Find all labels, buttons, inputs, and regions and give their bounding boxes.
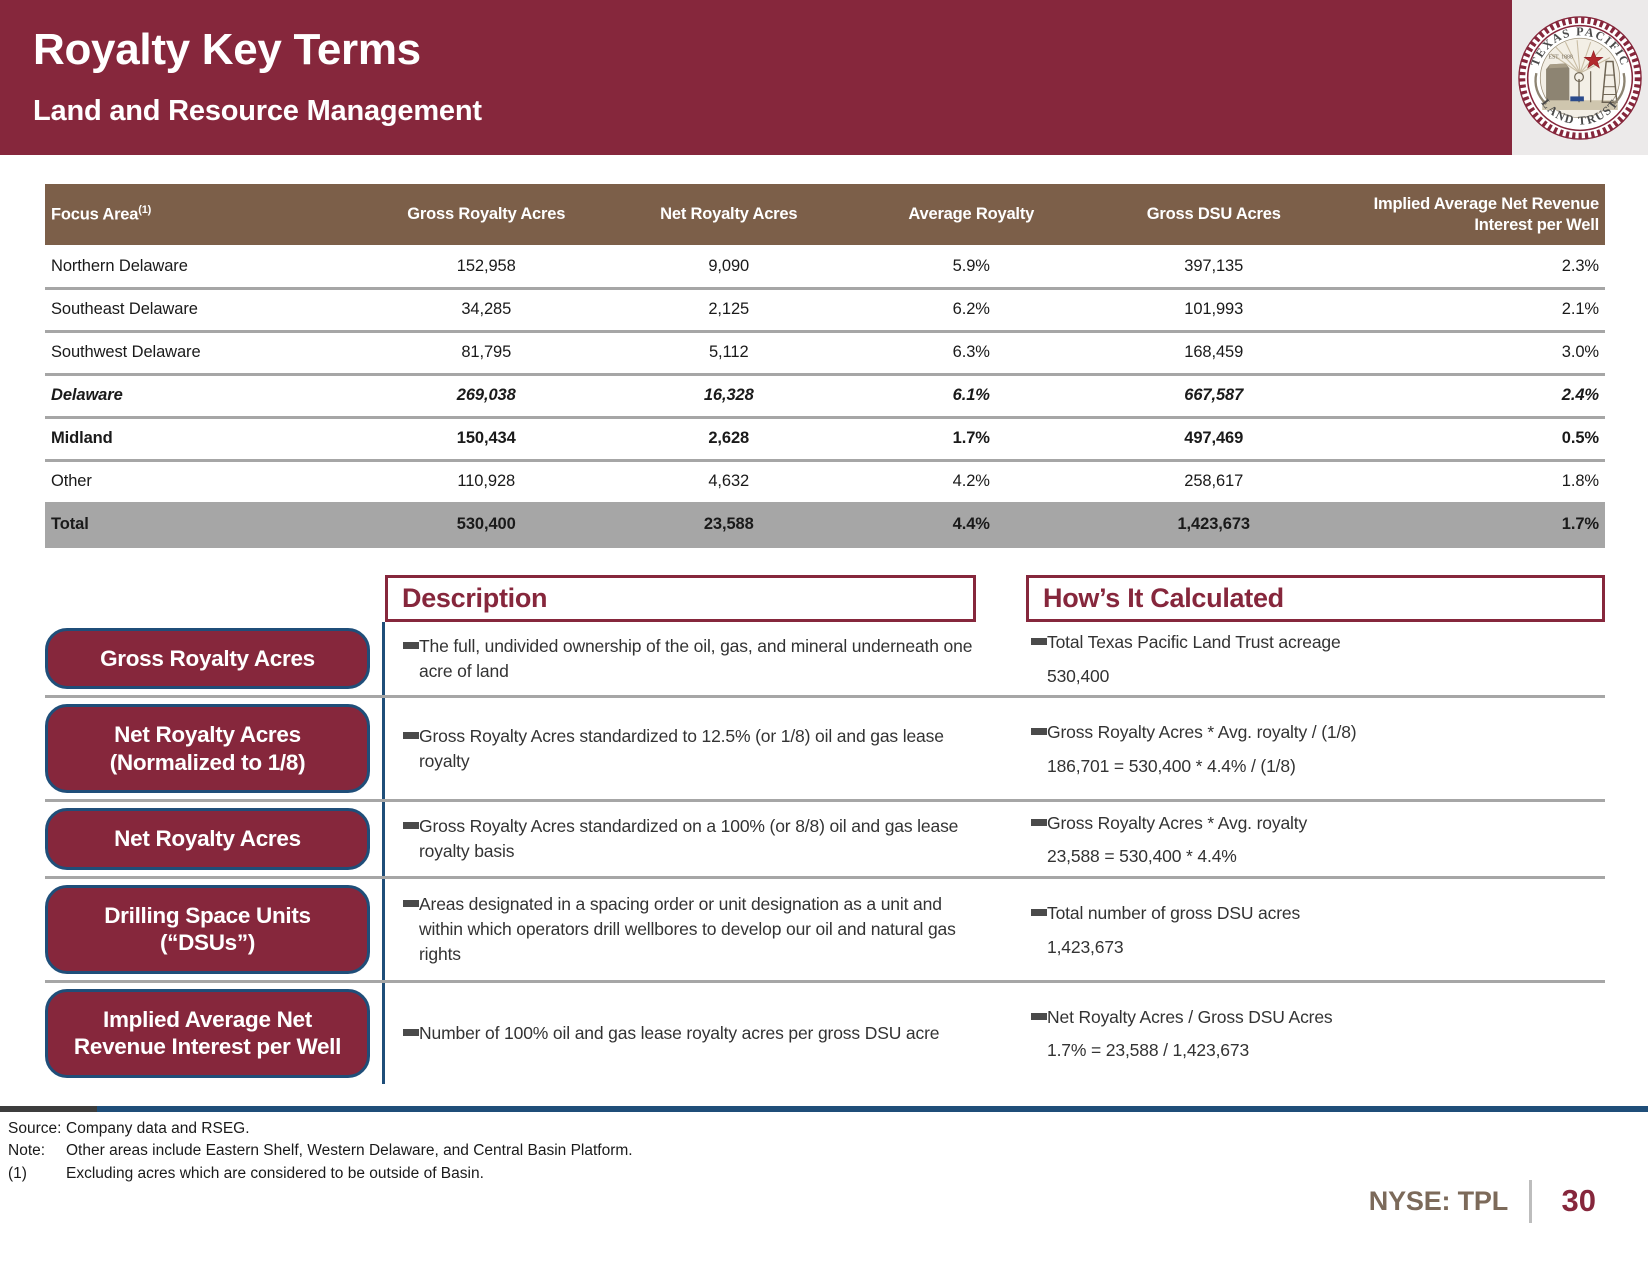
cell-net-royalty-acres: 2,628 bbox=[608, 417, 851, 460]
cell-focus-area: Other bbox=[45, 460, 365, 503]
focus-area-footnote-marker: (1) bbox=[138, 204, 151, 216]
cell-implied-nri: 0.5% bbox=[1335, 417, 1605, 460]
table-row: Southwest Delaware81,7955,1126.3%168,459… bbox=[45, 331, 1605, 374]
slide-root: Royalty Key Terms Land and Resource Mana… bbox=[0, 0, 1648, 1275]
term-row: Net Royalty AcresGross Royalty Acres sta… bbox=[45, 802, 1605, 878]
description-text: Gross Royalty Acres standardized on a 10… bbox=[419, 814, 989, 864]
calculation-value-text: 186,701 = 530,400 * 4.4% / (1/8) bbox=[1031, 756, 1587, 777]
cell-average-royalty: 1.7% bbox=[850, 417, 1093, 460]
cell-implied-nri: 2.1% bbox=[1335, 288, 1605, 331]
table-body: Northern Delaware152,9589,0905.9%397,135… bbox=[45, 245, 1605, 546]
calculation-cell: Total number of gross DSU acres1,423,673 bbox=[1023, 879, 1605, 980]
cell-net-royalty-acres: 2,125 bbox=[608, 288, 851, 331]
cell-average-royalty: 6.3% bbox=[850, 331, 1093, 374]
cell-gross-royalty-acres: 150,434 bbox=[365, 417, 608, 460]
page-subtitle: Land and Resource Management bbox=[33, 95, 482, 128]
cell-implied-nri: 1.8% bbox=[1335, 460, 1605, 503]
company-logo: EST. 1888 TEXAS PACIFIC LAND TRUST bbox=[1512, 0, 1648, 155]
description-cell: Number of 100% oil and gas lease royalty… bbox=[385, 983, 1023, 1084]
cell-average-royalty: 4.2% bbox=[850, 460, 1093, 503]
panel-header-description-label: Description bbox=[388, 583, 547, 614]
table-row: Northern Delaware152,9589,0905.9%397,135… bbox=[45, 245, 1605, 288]
description-text: Areas designated in a spacing order or u… bbox=[419, 892, 989, 967]
table-row: Southeast Delaware34,2852,1256.2%101,993… bbox=[45, 288, 1605, 331]
bullet-square-icon bbox=[1031, 638, 1047, 645]
calculation-value-text: 23,588 = 530,400 * 4.4% bbox=[1031, 846, 1587, 867]
term-pill-cell: Drilling Space Units (“DSUs”) bbox=[45, 879, 385, 980]
cell-gross-royalty-acres: 269,038 bbox=[365, 374, 608, 417]
description-bullet: Gross Royalty Acres standardized to 12.5… bbox=[403, 724, 989, 774]
cell-focus-area: Northern Delaware bbox=[45, 245, 365, 288]
term-pill-button[interactable]: Net Royalty Acres bbox=[45, 808, 370, 869]
cell-net-royalty-acres: 16,328 bbox=[608, 374, 851, 417]
term-pill-button[interactable]: Gross Royalty Acres bbox=[45, 628, 370, 689]
cell-average-royalty: 4.4% bbox=[850, 503, 1093, 546]
texas-pacific-land-trust-seal-icon: EST. 1888 TEXAS PACIFIC LAND TRUST bbox=[1517, 15, 1643, 141]
panel-header-how-its-calculated: How’s It Calculated bbox=[1026, 575, 1605, 622]
cell-focus-area: Southwest Delaware bbox=[45, 331, 365, 374]
cell-net-royalty-acres: 5,112 bbox=[608, 331, 851, 374]
calculation-cell: Gross Royalty Acres * Avg. royalty23,588… bbox=[1023, 802, 1605, 875]
description-text: Gross Royalty Acres standardized to 12.5… bbox=[419, 724, 989, 774]
cell-gross-royalty-acres: 81,795 bbox=[365, 331, 608, 374]
column-header-focus-area: Focus Area(1) bbox=[45, 184, 365, 245]
cell-gross-royalty-acres: 530,400 bbox=[365, 503, 608, 546]
panel-header-description: Description bbox=[385, 575, 976, 622]
calculation-cell: Net Royalty Acres / Gross DSU Acres1.7% … bbox=[1023, 983, 1605, 1084]
term-pill-cell: Gross Royalty Acres bbox=[45, 622, 385, 695]
table-row: Delaware269,03816,3286.1%667,5872.4% bbox=[45, 374, 1605, 417]
cell-focus-area: Delaware bbox=[45, 374, 365, 417]
bullet-square-icon bbox=[1031, 909, 1047, 916]
term-row: Gross Royalty AcresThe full, undivided o… bbox=[45, 622, 1605, 698]
description-text: Number of 100% oil and gas lease royalty… bbox=[419, 1021, 989, 1046]
cell-focus-area: Southeast Delaware bbox=[45, 288, 365, 331]
cell-implied-nri: 2.4% bbox=[1335, 374, 1605, 417]
bullet-square-icon bbox=[403, 1029, 419, 1036]
description-bullet: Gross Royalty Acres standardized on a 10… bbox=[403, 814, 989, 864]
panel-header-how-its-calculated-label: How’s It Calculated bbox=[1029, 583, 1284, 614]
cell-gross-dsu-acres: 101,993 bbox=[1093, 288, 1336, 331]
footnote-note: Note: Other areas include Eastern Shelf,… bbox=[8, 1140, 633, 1162]
calculation-bullet: Total number of gross DSU acres bbox=[1031, 901, 1587, 926]
cell-focus-area: Total bbox=[45, 503, 365, 546]
seal-est-text: EST. 1888 bbox=[1548, 54, 1572, 60]
calculation-bullet: Gross Royalty Acres * Avg. royalty bbox=[1031, 811, 1587, 836]
royalty-table: Focus Area(1) Gross Royalty Acres Net Ro… bbox=[45, 184, 1605, 548]
footnote-source: Source: Company data and RSEG. bbox=[8, 1118, 633, 1140]
royalty-table-container: Focus Area(1) Gross Royalty Acres Net Ro… bbox=[45, 184, 1605, 548]
page-number: 30 bbox=[1562, 1183, 1596, 1219]
cell-average-royalty: 6.1% bbox=[850, 374, 1093, 417]
cell-implied-nri: 3.0% bbox=[1335, 331, 1605, 374]
calculation-formula-text: Total Texas Pacific Land Trust acreage bbox=[1047, 630, 1587, 655]
calculation-bullet: Total Texas Pacific Land Trust acreage bbox=[1031, 630, 1587, 655]
cell-net-royalty-acres: 23,588 bbox=[608, 503, 851, 546]
cell-gross-royalty-acres: 152,958 bbox=[365, 245, 608, 288]
cell-gross-royalty-acres: 110,928 bbox=[365, 460, 608, 503]
calculation-formula-text: Gross Royalty Acres * Avg. royalty / (1/… bbox=[1047, 720, 1587, 745]
cell-gross-royalty-acres: 34,285 bbox=[365, 288, 608, 331]
table-header-row: Focus Area(1) Gross Royalty Acres Net Ro… bbox=[45, 184, 1605, 245]
bullet-square-icon bbox=[403, 900, 419, 907]
calculation-formula-text: Total number of gross DSU acres bbox=[1047, 901, 1587, 926]
bullet-square-icon bbox=[1031, 728, 1047, 735]
bullet-square-icon bbox=[1031, 819, 1047, 826]
column-header-net-royalty-acres: Net Royalty Acres bbox=[608, 184, 851, 245]
footnote-one: (1) Excluding acres which are considered… bbox=[8, 1163, 633, 1185]
calculation-cell: Total Texas Pacific Land Trust acreage53… bbox=[1023, 622, 1605, 695]
page-number-divider bbox=[1529, 1180, 1532, 1223]
description-bullet: The full, undivided ownership of the oil… bbox=[403, 634, 989, 684]
term-row: Drilling Space Units (“DSUs”)Areas desig… bbox=[45, 879, 1605, 983]
cell-implied-nri: 2.3% bbox=[1335, 245, 1605, 288]
calculation-value-text: 1,423,673 bbox=[1031, 937, 1587, 958]
column-header-implied-nri: Implied Average Net Revenue Interest per… bbox=[1335, 184, 1605, 245]
calculation-cell: Gross Royalty Acres * Avg. royalty / (1/… bbox=[1023, 698, 1605, 799]
calculation-formula-text: Gross Royalty Acres * Avg. royalty bbox=[1047, 811, 1587, 836]
page-title: Royalty Key Terms bbox=[33, 27, 421, 73]
bullet-square-icon bbox=[403, 732, 419, 739]
cell-gross-dsu-acres: 397,135 bbox=[1093, 245, 1336, 288]
calculation-value-text: 1.7% = 23,588 / 1,423,673 bbox=[1031, 1040, 1587, 1061]
cell-gross-dsu-acres: 497,469 bbox=[1093, 417, 1336, 460]
calculation-formula-text: Net Royalty Acres / Gross DSU Acres bbox=[1047, 1005, 1587, 1030]
bullet-square-icon bbox=[403, 822, 419, 829]
term-row: Net Royalty Acres(Normalized to 1/8)Gros… bbox=[45, 698, 1605, 802]
footnote-one-label: (1) bbox=[8, 1163, 66, 1185]
term-pill-cell: Net Royalty Acres bbox=[45, 802, 385, 875]
cell-gross-dsu-acres: 1,423,673 bbox=[1093, 503, 1336, 546]
cell-focus-area: Midland bbox=[45, 417, 365, 460]
footnote-one-text: Excluding acres which are considered to … bbox=[66, 1163, 633, 1185]
cell-net-royalty-acres: 9,090 bbox=[608, 245, 851, 288]
description-text: The full, undivided ownership of the oil… bbox=[419, 634, 989, 684]
table-row: Other110,9284,6324.2%258,6171.8% bbox=[45, 460, 1605, 503]
term-pill-button[interactable]: Net Royalty Acres(Normalized to 1/8) bbox=[45, 704, 370, 793]
terms-matrix: Gross Royalty AcresThe full, undivided o… bbox=[45, 622, 1605, 1110]
description-cell: Gross Royalty Acres standardized on a 10… bbox=[385, 802, 1023, 875]
cell-implied-nri: 1.7% bbox=[1335, 503, 1605, 546]
term-pill-button[interactable]: Implied Average NetRevenue Interest per … bbox=[45, 989, 370, 1078]
column-header-average-royalty: Average Royalty bbox=[850, 184, 1093, 245]
term-row: Implied Average NetRevenue Interest per … bbox=[45, 983, 1605, 1084]
calculation-bullet: Net Royalty Acres / Gross DSU Acres bbox=[1031, 1005, 1587, 1030]
term-pill-button[interactable]: Drilling Space Units (“DSUs”) bbox=[45, 885, 370, 974]
description-cell: Gross Royalty Acres standardized to 12.5… bbox=[385, 698, 1023, 799]
footnote-note-text: Other areas include Eastern Shelf, Weste… bbox=[66, 1140, 633, 1162]
description-bullet: Areas designated in a spacing order or u… bbox=[403, 892, 989, 967]
term-pill-cell: Implied Average NetRevenue Interest per … bbox=[45, 983, 385, 1084]
column-header-gross-dsu-acres: Gross DSU Acres bbox=[1093, 184, 1336, 245]
cell-average-royalty: 6.2% bbox=[850, 288, 1093, 331]
calculation-value-text: 530,400 bbox=[1031, 666, 1587, 687]
stock-ticker: NYSE: TPL bbox=[1369, 1186, 1508, 1217]
footer-rule-blue bbox=[97, 1106, 1648, 1112]
cell-gross-dsu-acres: 667,587 bbox=[1093, 374, 1336, 417]
footnotes: Source: Company data and RSEG. Note: Oth… bbox=[8, 1118, 633, 1185]
cell-net-royalty-acres: 4,632 bbox=[608, 460, 851, 503]
footnote-source-text: Company data and RSEG. bbox=[66, 1118, 633, 1140]
table-row: Total530,40023,5884.4%1,423,6731.7% bbox=[45, 503, 1605, 546]
footnote-source-label: Source: bbox=[8, 1118, 66, 1140]
bullet-square-icon bbox=[403, 642, 419, 649]
table-row: Midland150,4342,6281.7%497,4690.5% bbox=[45, 417, 1605, 460]
calculation-bullet: Gross Royalty Acres * Avg. royalty / (1/… bbox=[1031, 720, 1587, 745]
cell-gross-dsu-acres: 168,459 bbox=[1093, 331, 1336, 374]
description-bullet: Number of 100% oil and gas lease royalty… bbox=[403, 1021, 989, 1046]
description-cell: The full, undivided ownership of the oil… bbox=[385, 622, 1023, 695]
description-cell: Areas designated in a spacing order or u… bbox=[385, 879, 1023, 980]
bullet-square-icon bbox=[1031, 1013, 1047, 1020]
cell-gross-dsu-acres: 258,617 bbox=[1093, 460, 1336, 503]
footnote-note-label: Note: bbox=[8, 1140, 66, 1162]
slide-header: Royalty Key Terms Land and Resource Mana… bbox=[0, 0, 1512, 155]
cell-average-royalty: 5.9% bbox=[850, 245, 1093, 288]
term-pill-cell: Net Royalty Acres(Normalized to 1/8) bbox=[45, 698, 385, 799]
column-header-gross-royalty-acres: Gross Royalty Acres bbox=[365, 184, 608, 245]
